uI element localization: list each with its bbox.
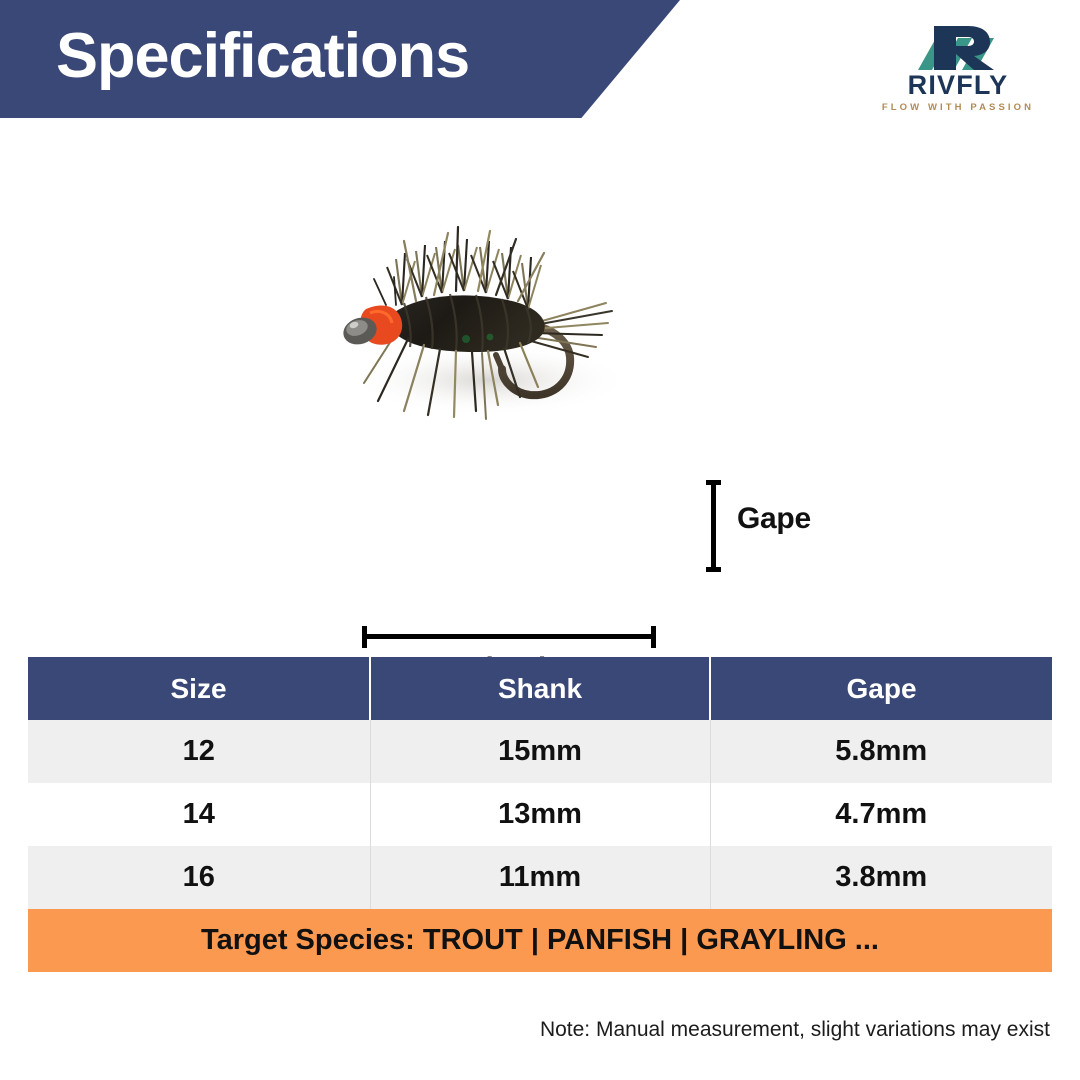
cell-gape: 4.7mm bbox=[710, 783, 1052, 846]
specifications-page: Specifications RIVFLY FLOW WITH PASSION bbox=[0, 0, 1080, 1080]
brand-tagline: FLOW WITH PASSION bbox=[868, 102, 1048, 113]
cell-gape: 3.8mm bbox=[710, 846, 1052, 909]
svg-text:RIVFLY: RIVFLY bbox=[908, 70, 1009, 100]
cell-size: 12 bbox=[28, 720, 370, 783]
column-header-shank: Shank bbox=[370, 657, 710, 720]
gape-measure-rule-icon bbox=[706, 480, 719, 572]
brand-wordmark: RIVFLY bbox=[868, 70, 1048, 100]
target-species-row: Target Species: TROUT | PANFISH | GRAYLI… bbox=[28, 909, 1052, 972]
fly-fishing-nymph-photo bbox=[330, 205, 660, 465]
shank-measure-rule-icon bbox=[362, 626, 656, 648]
page-title: Specifications bbox=[56, 22, 469, 91]
measurement-note: Note: Manual measurement, slight variati… bbox=[540, 1018, 1050, 1042]
rivfly-r-monogram-icon bbox=[916, 20, 1000, 72]
table-header-row: Size Shank Gape bbox=[28, 657, 1052, 720]
cell-shank: 13mm bbox=[370, 783, 710, 846]
product-figure: Gape Shank bbox=[0, 150, 1080, 620]
cell-shank: 15mm bbox=[370, 720, 710, 783]
table-row: 16 11mm 3.8mm bbox=[28, 846, 1052, 909]
cell-size: 16 bbox=[28, 846, 370, 909]
column-header-gape: Gape bbox=[710, 657, 1052, 720]
column-header-size: Size bbox=[28, 657, 370, 720]
table-row: 14 13mm 4.7mm bbox=[28, 783, 1052, 846]
target-species-label: Target Species: TROUT | PANFISH | GRAYLI… bbox=[28, 909, 1052, 972]
cell-gape: 5.8mm bbox=[710, 720, 1052, 783]
brand-logo: RIVFLY FLOW WITH PASSION bbox=[868, 20, 1048, 116]
cell-shank: 11mm bbox=[370, 846, 710, 909]
gape-label: Gape bbox=[737, 502, 811, 536]
table-row: 12 15mm 5.8mm bbox=[28, 720, 1052, 783]
cell-size: 14 bbox=[28, 783, 370, 846]
specifications-table: Size Shank Gape 12 15mm 5.8mm 14 13mm 4.… bbox=[28, 657, 1052, 972]
